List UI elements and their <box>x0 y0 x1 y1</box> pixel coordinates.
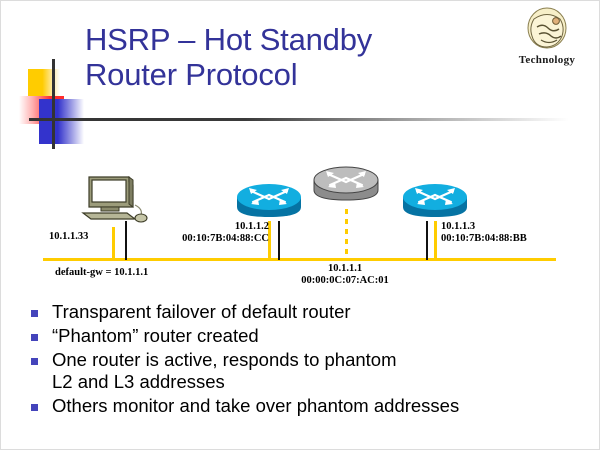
router-phantom-ip-label: 10.1.1.1 <box>295 263 395 275</box>
router-phantom-drop-line <box>345 209 348 260</box>
router-right-ip-label: 10.1.1.3 <box>441 221 475 233</box>
decoration-horizontal-rule <box>29 118 569 121</box>
title-line-1: HSRP – Hot Standby <box>85 22 485 57</box>
router-phantom-node <box>311 163 381 214</box>
bullet-marker-icon <box>31 310 38 317</box>
network-diagram: 10.1.1.33 10.1.1.2 00:10:7B:04:88:CC <box>1 153 600 293</box>
logo-text: Technology <box>501 54 593 66</box>
router-right-mac-label: 00:10:7B:04:88:BB <box>441 233 527 245</box>
list-item: One router is active, responds to phanto… <box>31 349 586 393</box>
page-title: HSRP – Hot Standby Router Protocol <box>85 22 485 92</box>
router-left-ip-label: 10.1.1.2 <box>159 221 269 233</box>
decoration-yellow-square <box>28 69 60 99</box>
router-right-drop-line <box>434 221 437 260</box>
router-phantom-mac-label: 00:00:0C:07:AC:01 <box>285 275 405 287</box>
bullet-marker-icon <box>31 404 38 411</box>
decoration-vertical-rule <box>52 59 55 149</box>
bullet-marker-icon <box>31 358 38 365</box>
list-item: Others monitor and take over phantom add… <box>31 395 586 417</box>
bullet-text: Transparent failover of default router <box>52 301 351 323</box>
bullet-list: Transparent failover of default router “… <box>31 301 586 419</box>
logo: Technology <box>501 7 593 69</box>
slide: HSRP – Hot Standby Router Protocol Techn… <box>0 0 600 450</box>
router-right-segment-divider <box>426 221 428 260</box>
router-left-segment-divider <box>278 221 280 260</box>
router-left-mac-label: 00:10:7B:04:88:CC <box>139 233 269 245</box>
default-gateway-note: default-gw = 10.1.1.1 <box>55 267 148 279</box>
pc-segment-divider <box>125 221 127 260</box>
ethernet-bus <box>43 258 556 261</box>
pc-drop-line <box>112 227 115 260</box>
pc-node <box>75 175 151 232</box>
router-icon-phantom <box>311 163 381 209</box>
bullet-marker-icon <box>31 334 38 341</box>
bullet-text: “Phantom” router created <box>52 325 259 347</box>
list-item: Transparent failover of default router <box>31 301 586 323</box>
decoration-blue-square <box>39 99 84 144</box>
bullet-text: Others monitor and take over phantom add… <box>52 395 459 417</box>
title-line-2: Router Protocol <box>85 57 485 92</box>
router-icon <box>235 181 303 225</box>
bullet-text: One router is active, responds to phanto… <box>52 349 397 393</box>
head-sketch-logo-icon <box>501 7 593 51</box>
desktop-computer-icon <box>75 175 151 227</box>
list-item: “Phantom” router created <box>31 325 586 347</box>
router-icon <box>401 181 469 225</box>
pc-label: 10.1.1.33 <box>49 231 88 243</box>
